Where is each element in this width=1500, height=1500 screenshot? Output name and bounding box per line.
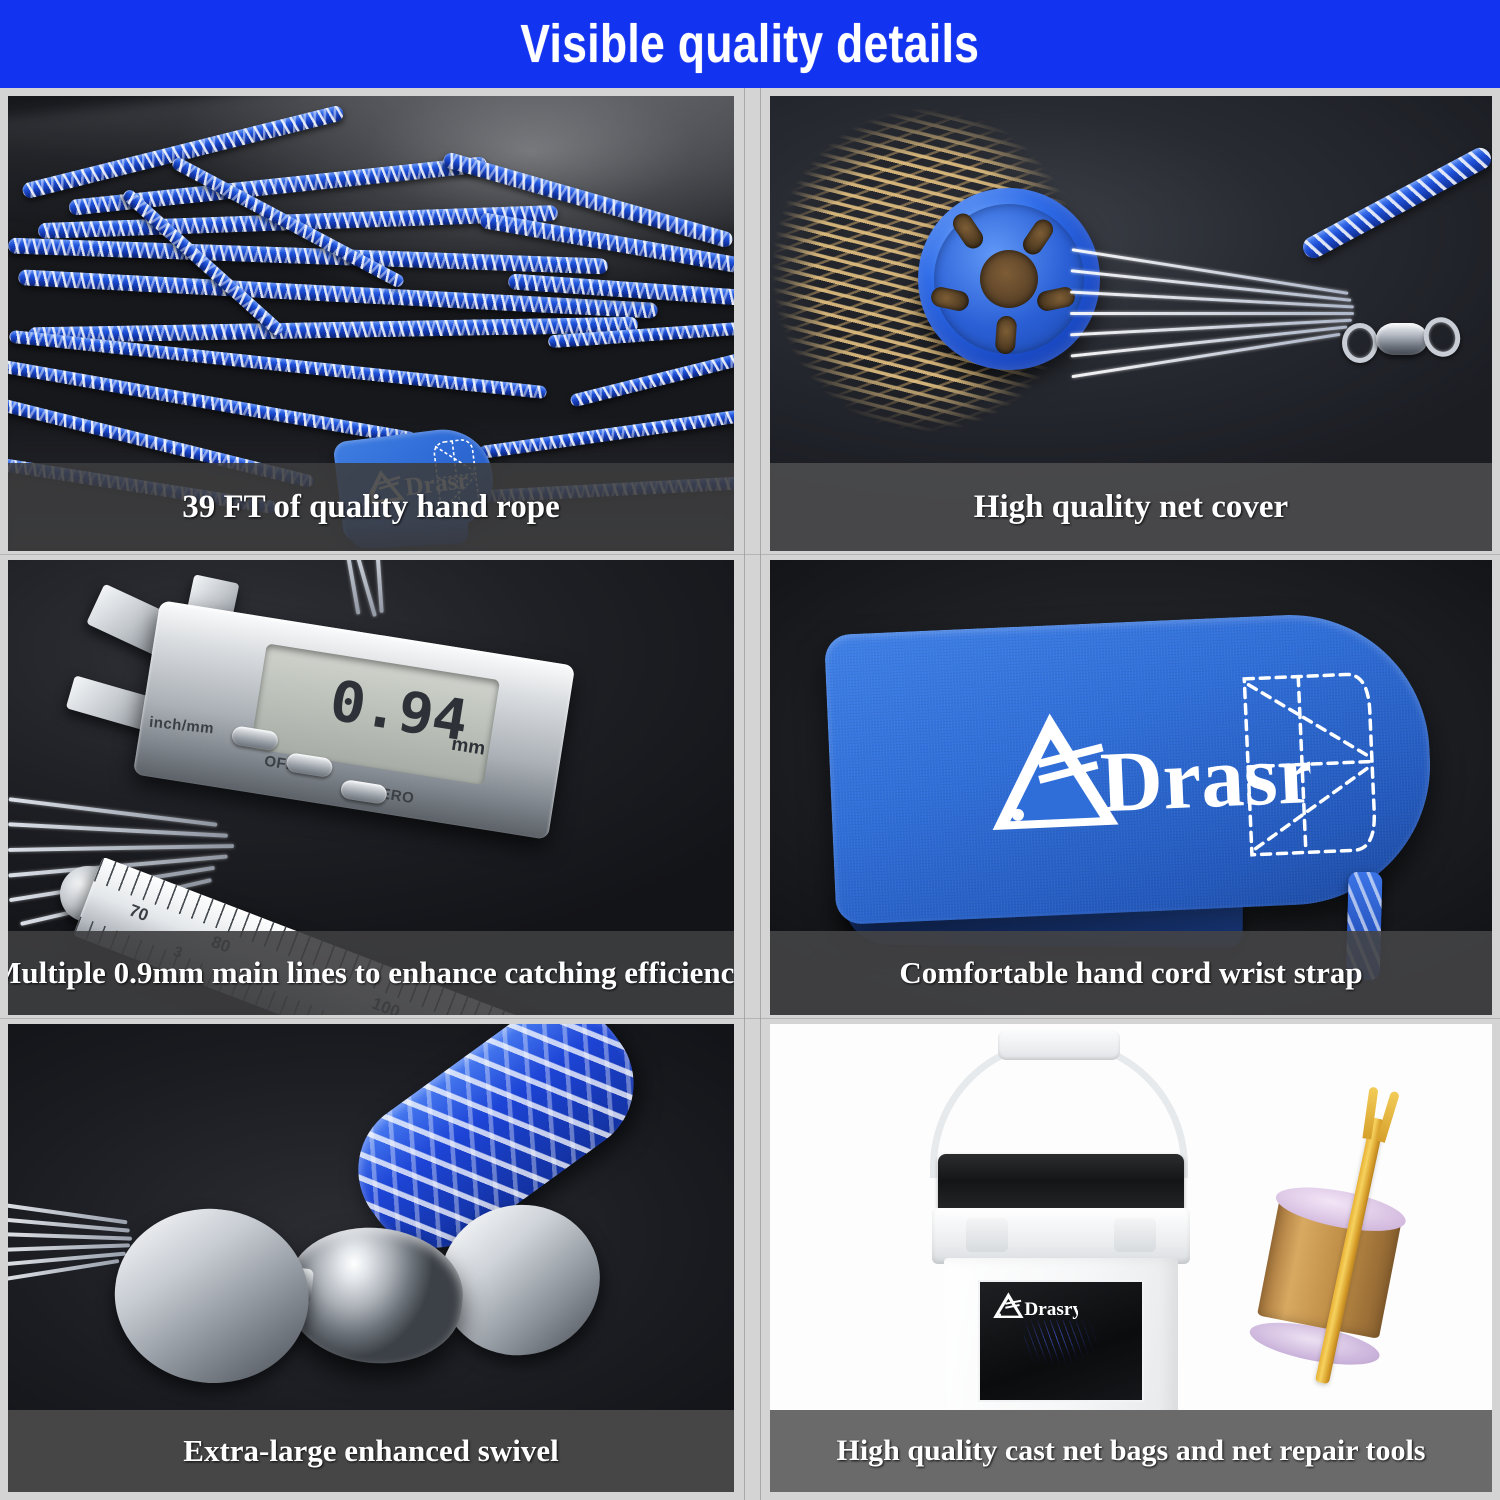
cast-net-artwork xyxy=(1024,1320,1130,1390)
wrist-strap: Drasry xyxy=(824,609,1436,925)
bucket-lid xyxy=(938,1154,1184,1214)
panel-wrist-strap: Drasry xyxy=(770,560,1492,1015)
scale-number: 70 xyxy=(126,901,151,926)
caption-main-lines: Multiple 0.9mm main lines to enhance cat… xyxy=(8,931,734,1015)
gutter-separator-left xyxy=(744,88,745,1500)
caliper-reading: 0.94 xyxy=(326,669,472,755)
caption-hand-rope: 39 FT of quality hand rope xyxy=(8,463,734,551)
stitching-pattern-icon xyxy=(1234,663,1382,865)
panel-swivel: Extra-large enhanced swivel xyxy=(8,1024,734,1492)
main-lines-bundle xyxy=(8,1206,148,1276)
bucket-rim xyxy=(932,1208,1190,1264)
cast-net-bucket: Drasry xyxy=(920,1076,1200,1406)
gutter-separator-right xyxy=(760,88,761,1500)
drasry-logo-icon: Drasry xyxy=(990,1290,1078,1322)
swivel xyxy=(1340,311,1460,367)
bucket-label: Drasry xyxy=(978,1280,1144,1402)
bucket-body: Drasry xyxy=(944,1258,1178,1428)
svg-text:Drasry: Drasry xyxy=(1024,1299,1078,1320)
gutter-separator-row1 xyxy=(0,554,1500,555)
gutter-separator-row2 xyxy=(0,1018,1500,1019)
swivel-eye-right xyxy=(1418,312,1466,362)
panel-bag-and-tools: Drasry xyxy=(770,1024,1492,1492)
infographic-page: Visible quality details xyxy=(0,0,1500,1500)
bucket-handle-grip xyxy=(998,1030,1120,1060)
caption-net-cover: High quality net cover xyxy=(770,463,1492,551)
caliper-unit: mm xyxy=(450,734,487,761)
main-lines-fan xyxy=(1070,266,1360,376)
page-title: Visible quality details xyxy=(521,13,980,75)
panel-grid: Drasry xyxy=(0,88,1500,1500)
caption-swivel: Extra-large enhanced swivel xyxy=(8,1410,734,1492)
caption-wrist-strap: Comfortable hand cord wrist strap xyxy=(770,931,1492,1015)
panel-hand-rope: Drasry xyxy=(8,96,734,551)
panel-net-cover: High quality net cover xyxy=(770,96,1492,551)
caption-bag-and-tools: High quality cast net bags and net repai… xyxy=(770,1410,1492,1492)
panel-main-lines: 0.94 mm inch/mm OFF·ON ZERO 70 80 xyxy=(8,560,734,1015)
header-banner: Visible quality details xyxy=(0,0,1500,88)
swivel-barrel xyxy=(1376,323,1428,355)
caliper-label-inch-mm: inch/mm xyxy=(148,714,215,738)
caliper-button-zero[interactable] xyxy=(340,779,388,805)
swivel-eye-left xyxy=(1342,323,1378,363)
